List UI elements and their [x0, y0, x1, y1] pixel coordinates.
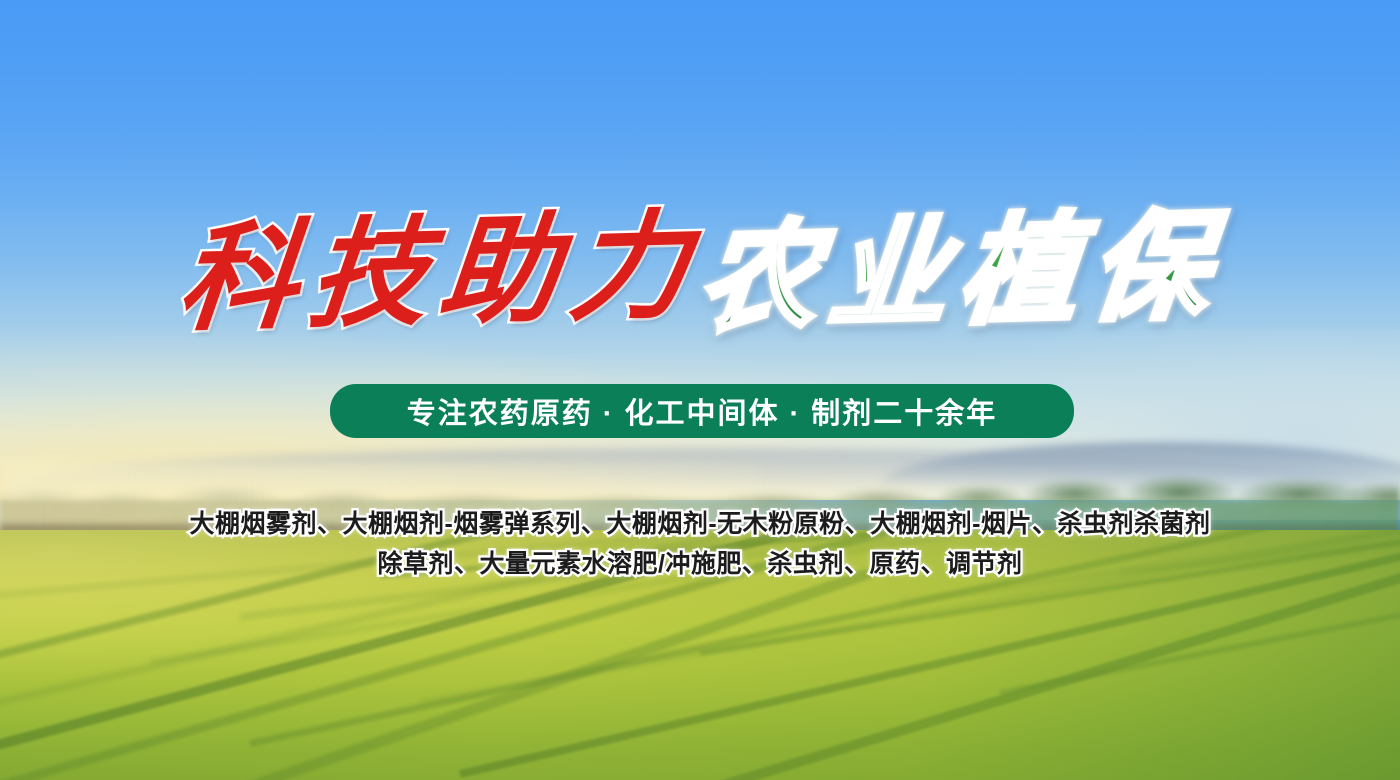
subtitle-pill: 专注农药原药 · 化工中间体 · 制剂二十余年: [330, 384, 1074, 438]
subtitle-pill-text: 专注农药原药 · 化工中间体 · 制剂二十余年: [407, 390, 998, 432]
product-line-1: 大棚烟雾剂、大棚烟剂-烟雾弹系列、大棚烟剂-无木粉原粉、大棚烟剂-烟片、杀虫剂杀…: [0, 504, 1400, 544]
product-line-2: 除草剂、大量元素水溶肥/冲施肥、杀虫剂、原药、调节剂: [0, 544, 1400, 584]
product-list: 大棚烟雾剂、大棚烟剂-烟雾弹系列、大棚烟剂-无木粉原粉、大棚烟剂-烟片、杀虫剂杀…: [0, 504, 1400, 584]
title-red-segment: 科技助力: [173, 201, 707, 347]
page-title: 科技助力农业植保: [0, 208, 1400, 340]
title-green-segment: 农业植保: [693, 201, 1227, 347]
promo-banner: 科技助力农业植保 专注农药原药 · 化工中间体 · 制剂二十余年 大棚烟雾剂、大…: [0, 0, 1400, 780]
